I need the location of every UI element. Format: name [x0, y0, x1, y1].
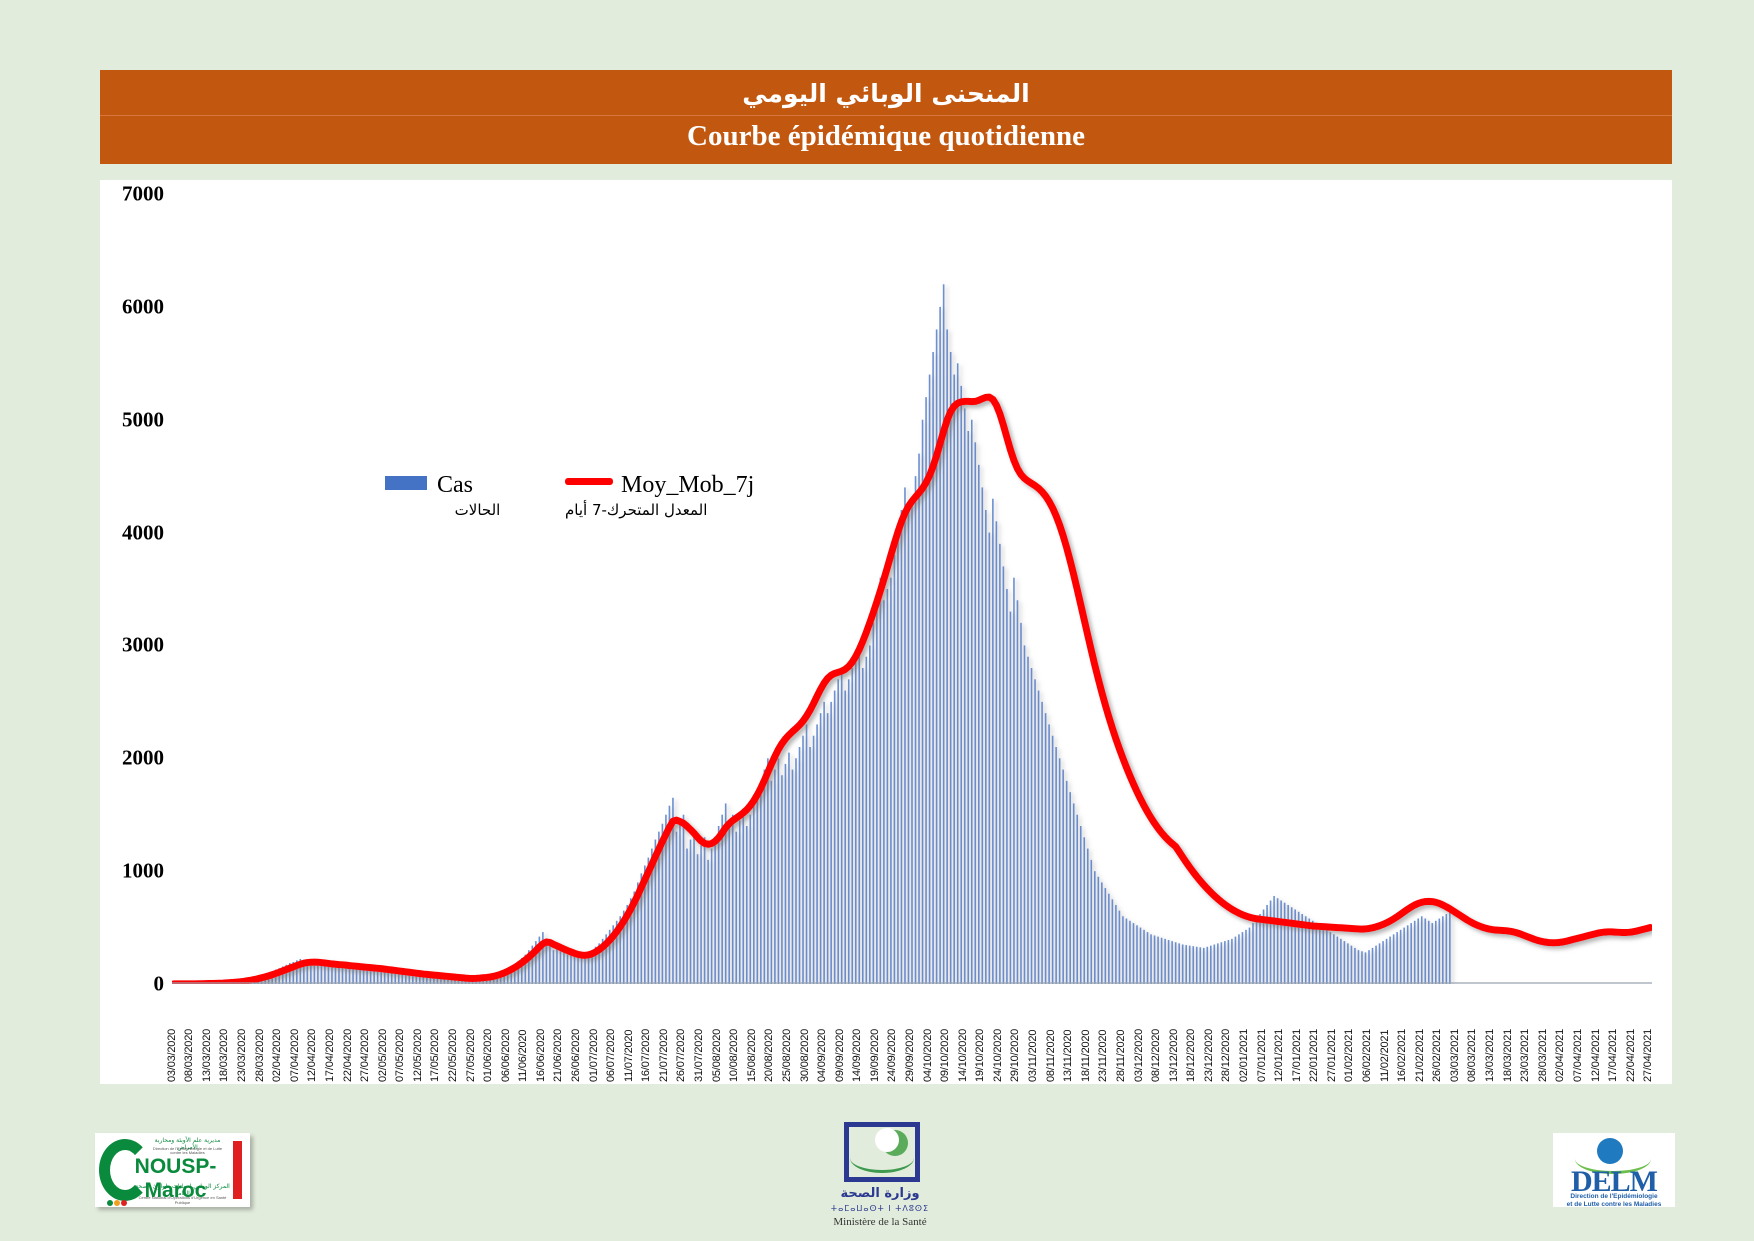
- x-tick-label: 11/02/2021: [1379, 1030, 1391, 1082]
- x-tick-label: 10/08/2020: [728, 1029, 740, 1082]
- x-tick-label: 17/04/2021: [1607, 1029, 1619, 1082]
- x-tick-label: 06/07/2020: [605, 1029, 617, 1082]
- chart-panel: 01000200030004000500060007000: [100, 180, 1672, 1084]
- x-tick-label: 29/10/2020: [1009, 1029, 1021, 1082]
- x-tick-label: 13/11/2020: [1062, 1030, 1074, 1082]
- legend-label-cas-arabic: الحالات: [385, 501, 530, 519]
- delm-subtitle: Direction de l'Epidémiologie et de Lutte…: [1553, 1193, 1675, 1209]
- nousp-maroc-logo: مديرية علم الأوبئة ومحاربة الأمراض Direc…: [95, 1133, 250, 1207]
- x-tick-label: 18/03/2021: [1502, 1029, 1514, 1082]
- ministry-crescent-icon: [882, 1130, 908, 1156]
- x-tick-label: 23/11/2020: [1097, 1030, 1109, 1082]
- x-tick-label: 21/06/2020: [552, 1029, 564, 1082]
- x-tick-label: 30/08/2020: [799, 1029, 811, 1082]
- x-tick-label: 28/03/2021: [1537, 1029, 1549, 1082]
- screenshot-root: المنحنى الوبائي اليومي Courbe épidémique…: [0, 0, 1754, 1241]
- x-tick-label: 19/10/2020: [974, 1029, 986, 1082]
- chart-title-banner: المنحنى الوبائي اليومي Courbe épidémique…: [100, 70, 1672, 164]
- x-tick-label: 04/09/2020: [816, 1029, 828, 1082]
- x-tick-label: 14/09/2020: [851, 1029, 863, 1082]
- x-tick-label: 08/12/2020: [1150, 1029, 1162, 1082]
- x-tick-label: 08/11/2020: [1045, 1030, 1057, 1082]
- legend-item-cas: Cas الحالات: [385, 472, 530, 519]
- x-tick-label: 27/05/2020: [465, 1029, 477, 1082]
- x-tick-label: 01/02/2021: [1343, 1029, 1355, 1082]
- x-tick-label: 16/07/2020: [640, 1029, 652, 1082]
- delm-subtitle-line1: Direction de l'Epidémiologie: [1570, 1193, 1657, 1200]
- x-tick-label: 17/04/2020: [324, 1029, 336, 1082]
- x-tick-label: 27/01/2021: [1326, 1029, 1338, 1082]
- delm-subtitle-line2: et de Lutte contre les Maladies: [1567, 1201, 1662, 1208]
- x-tick-label: 22/01/2021: [1308, 1029, 1320, 1082]
- page-title-arabic: المنحنى الوبائي اليومي: [100, 78, 1672, 109]
- y-axis-labels: 01000200030004000500060007000: [100, 180, 170, 1010]
- x-tick-label: 27/04/2021: [1642, 1029, 1654, 1082]
- y-tick-0: 0: [154, 972, 165, 997]
- x-tick-label: 11/07/2020: [623, 1030, 635, 1082]
- x-axis-labels: 03/03/202008/03/202013/03/202018/03/2020…: [172, 986, 1652, 1082]
- x-tick-label: 07/04/2021: [1572, 1029, 1584, 1082]
- x-tick-label: 02/04/2021: [1554, 1029, 1566, 1082]
- x-tick-label: 24/10/2020: [992, 1029, 1004, 1082]
- x-tick-label: 28/12/2020: [1220, 1029, 1232, 1082]
- x-tick-label: 06/06/2020: [500, 1029, 512, 1082]
- x-tick-label: 14/10/2020: [957, 1029, 969, 1082]
- x-tick-label: 21/07/2020: [658, 1029, 670, 1082]
- legend-bar-swatch-icon: [385, 476, 427, 490]
- x-tick-label: 09/09/2020: [834, 1029, 846, 1082]
- x-tick-label: 12/05/2020: [412, 1029, 424, 1082]
- epidemic-curve-svg: [172, 194, 1652, 984]
- x-tick-label: 07/01/2021: [1256, 1029, 1268, 1082]
- ministry-name-tifinagh: ⵜⴰⵎⴰⵡⴰⵙⵜ ⵏ ⵜⴷⵓⵙⵉ: [820, 1204, 940, 1213]
- x-tick-label: 26/07/2020: [675, 1029, 687, 1082]
- x-tick-label: 02/01/2021: [1238, 1029, 1250, 1082]
- x-tick-label: 04/10/2020: [922, 1029, 934, 1082]
- x-tick-label: 03/03/2021: [1449, 1029, 1461, 1082]
- legend-label-moving-average-arabic: المعدل المتحرك-7 أيام: [565, 501, 765, 519]
- x-tick-label: 16/06/2020: [535, 1029, 547, 1082]
- x-tick-label: 03/03/2020: [166, 1029, 178, 1082]
- x-tick-label: 15/08/2020: [746, 1029, 758, 1082]
- x-tick-label: 31/07/2020: [693, 1029, 705, 1082]
- legend-label-moving-average: Moy_Mob_7j: [621, 472, 754, 498]
- x-tick-label: 13/03/2021: [1484, 1029, 1496, 1082]
- y-tick-2000: 2000: [122, 746, 164, 771]
- x-tick-label: 23/03/2020: [236, 1029, 248, 1082]
- plot-area: 01000200030004000500060007000: [100, 180, 1672, 1084]
- ministry-name-arabic: وزارة الصحة: [820, 1186, 940, 1201]
- x-tick-label: 21/02/2021: [1414, 1029, 1426, 1082]
- banner-divider: [100, 115, 1672, 116]
- y-tick-7000: 7000: [122, 182, 164, 207]
- x-tick-label: 13/12/2020: [1168, 1029, 1180, 1082]
- x-tick-label: 02/05/2020: [377, 1029, 389, 1082]
- x-tick-label: 18/11/2020: [1080, 1030, 1092, 1082]
- x-tick-label: 19/09/2020: [869, 1029, 881, 1082]
- x-tick-label: 22/04/2020: [342, 1029, 354, 1082]
- x-tick-label: 12/04/2021: [1590, 1029, 1602, 1082]
- ministry-of-health-logo: وزارة الصحة ⵜⴰⵎⴰⵡⴰⵙⵜ ⵏ ⵜⴷⵓⵙⵉ Ministère d…: [820, 1120, 940, 1232]
- y-tick-6000: 6000: [122, 294, 164, 319]
- x-tick-label: 05/08/2020: [711, 1029, 723, 1082]
- x-tick-label: 03/11/2020: [1027, 1030, 1039, 1082]
- x-tick-label: 26/02/2021: [1431, 1029, 1443, 1082]
- x-tick-label: 16/02/2021: [1396, 1029, 1408, 1082]
- x-tick-label: 23/12/2020: [1203, 1029, 1215, 1082]
- page-title-french: Courbe épidémique quotidienne: [100, 120, 1672, 153]
- x-tick-label: 22/05/2020: [447, 1029, 459, 1082]
- x-tick-label: 25/08/2020: [781, 1029, 793, 1082]
- x-tick-label: 08/03/2020: [183, 1029, 195, 1082]
- x-tick-label: 09/10/2020: [939, 1029, 951, 1082]
- x-tick-label: 17/01/2021: [1291, 1029, 1303, 1082]
- x-tick-label: 02/04/2020: [271, 1029, 283, 1082]
- x-tick-label: 22/04/2021: [1625, 1029, 1637, 1082]
- x-tick-label: 18/03/2020: [218, 1029, 230, 1082]
- x-tick-label: 26/06/2020: [570, 1029, 582, 1082]
- y-tick-4000: 4000: [122, 520, 164, 545]
- x-tick-label: 03/12/2020: [1133, 1029, 1145, 1082]
- delm-logo: DELM Direction de l'Epidémiologie et de …: [1553, 1133, 1675, 1207]
- x-tick-label: 28/03/2020: [254, 1029, 266, 1082]
- x-tick-label: 07/05/2020: [394, 1029, 406, 1082]
- x-tick-label: 13/03/2020: [201, 1029, 213, 1082]
- nousp-red-bar-icon: [233, 1141, 242, 1199]
- x-tick-label: 18/12/2020: [1185, 1029, 1197, 1082]
- x-tick-label: 24/09/2020: [886, 1029, 898, 1082]
- nousp-dots-icon: [107, 1193, 133, 1201]
- x-tick-label: 07/04/2020: [289, 1029, 301, 1082]
- x-tick-label: 06/02/2021: [1361, 1029, 1373, 1082]
- y-tick-1000: 1000: [122, 859, 164, 884]
- x-tick-label: 12/01/2021: [1273, 1029, 1285, 1082]
- x-tick-label: 01/06/2020: [482, 1029, 494, 1082]
- x-tick-label: 27/04/2020: [359, 1029, 371, 1082]
- chart-legend: Cas الحالات Moy_Mob_7j المعدل المتحرك-7 …: [385, 472, 805, 530]
- x-tick-label: 29/09/2020: [904, 1029, 916, 1082]
- bars-series: [173, 284, 1451, 984]
- legend-line-swatch-icon: [565, 478, 613, 485]
- x-tick-label: 23/03/2021: [1519, 1029, 1531, 1082]
- x-tick-label: 28/11/2020: [1115, 1030, 1127, 1082]
- x-tick-label: 01/07/2020: [588, 1029, 600, 1082]
- nousp-bottom-french: Centre National d'Opérations d'Urgence e…: [135, 1195, 230, 1205]
- y-tick-3000: 3000: [122, 633, 164, 658]
- y-tick-5000: 5000: [122, 407, 164, 432]
- x-tick-label: 08/03/2021: [1466, 1029, 1478, 1082]
- ministry-name-french: Ministère de la Santé: [820, 1216, 940, 1228]
- chart-canvas: [172, 194, 1652, 984]
- x-tick-label: 11/06/2020: [517, 1030, 529, 1082]
- legend-label-cas: Cas: [437, 472, 473, 498]
- legend-item-moving-average: Moy_Mob_7j المعدل المتحرك-7 أيام: [565, 472, 765, 519]
- x-tick-label: 17/05/2020: [429, 1029, 441, 1082]
- x-tick-label: 20/08/2020: [763, 1029, 775, 1082]
- x-tick-label: 12/04/2020: [306, 1029, 318, 1082]
